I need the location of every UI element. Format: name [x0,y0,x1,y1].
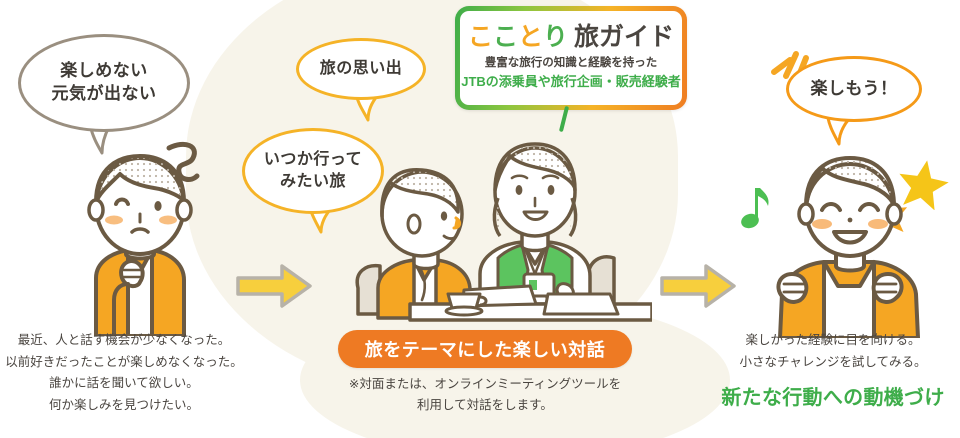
kokotori-guide-card: こことり旅ガイド 豊富な旅行の知識と経験を持った JTBの添乗員や旅行企画・販売… [455,6,687,110]
travel-memory-bubble: 旅の思い出 [296,38,426,100]
kokotori-logo-title: こことり旅ガイド [468,25,674,50]
infographic-canvas: 楽しめない 元気が出ない [0,0,960,438]
sad-speech-bubble-text: 楽しめない 元気が出ない [52,60,157,106]
worried-elderly-woman-illustration [58,150,214,336]
logo-subtitle-line-2: JTBの添乗員や旅行企画・販売経験者 [461,72,681,92]
logo-char-2: こ [493,23,518,51]
right-panel-highlight: 新たな行動への動機づけ [708,381,958,410]
right-panel-caption: 楽しかった経験に目を向ける。 小さなチャレンジを試してみる。 [708,330,958,373]
logo-char-1: こ [468,23,493,51]
left-panel-caption: 最近、人と話す機会が少なくなった。 以前好きだったことが楽しめなくなった。 誰か… [4,330,244,416]
dialogue-theme-pill: 旅をテーマにした楽しい対話 [338,330,632,368]
cheerful-elderly-woman-illustration [762,148,938,338]
someday-trip-bubble-text: いつか行って みたい旅 [264,149,362,192]
lets-enjoy-bubble: 楽しもう！ [786,56,922,122]
lets-enjoy-bubble-text: 楽しもう！ [811,78,898,101]
guide-and-senior-woman-illustration [352,128,652,328]
sad-speech-bubble: 楽しめない 元気が出ない [18,34,190,132]
someday-trip-bubble: いつか行って みたい旅 [242,128,384,214]
logo-subtitle-line-1: 豊富な旅行の知識と経験を持った [485,55,658,72]
logo-title-suffix: 旅ガイド [574,23,674,51]
arrow-left-to-middle [236,262,314,310]
dialogue-theme-pill-label: 旅をテーマにした楽しい対話 [365,336,606,362]
logo-char-4: り [543,23,568,51]
dialogue-note: ※対面または、オンラインミーティングツールを 利用して対話をします。 [330,374,640,415]
arrow-middle-to-right [660,262,738,310]
travel-memory-bubble-text: 旅の思い出 [320,58,403,80]
logo-char-3: と [518,23,543,51]
